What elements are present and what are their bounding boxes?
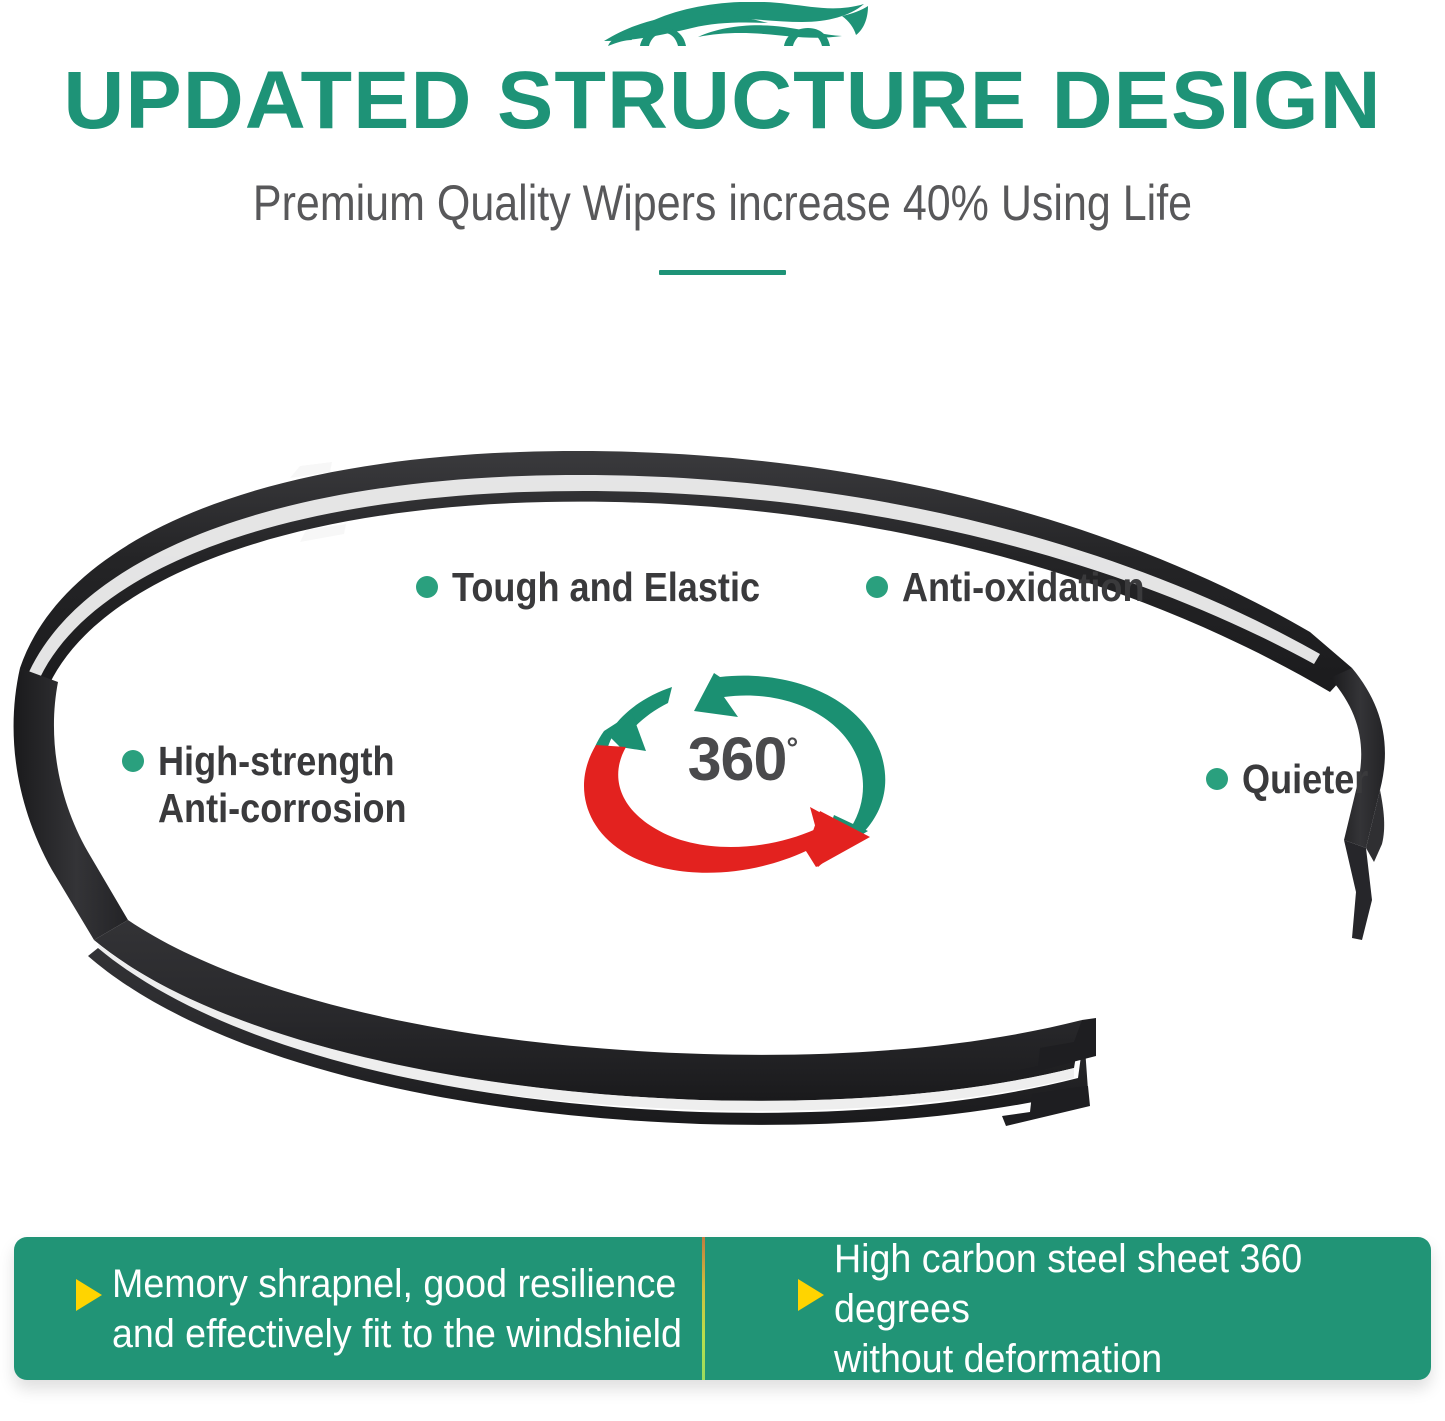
bullet-dot-icon xyxy=(866,576,888,598)
banner-text-line2: without deformation xyxy=(834,1334,1396,1384)
banner-text: Memory shrapnel, good resilienceand effe… xyxy=(112,1259,682,1359)
page-subtitle: Premium Quality Wipers increase 40% Usin… xyxy=(101,173,1344,233)
feature-text-line1: High-strength xyxy=(158,738,395,784)
bullet-dot-icon xyxy=(1206,768,1228,790)
header-divider xyxy=(659,270,786,275)
page-title: UPDATED STRUCTURE DESIGN xyxy=(0,58,1445,144)
feature-text-line2: Anti-corrosion xyxy=(158,785,407,832)
feature-label-anti-oxidation: Anti-oxidation xyxy=(866,564,1178,611)
bottom-feature-banner: Memory shrapnel, good resilienceand effe… xyxy=(14,1237,1431,1380)
banner-item-high-carbon-steel: High carbon steel sheet 360 degreeswitho… xyxy=(723,1237,1432,1380)
banner-text: High carbon steel sheet 360 degreeswitho… xyxy=(834,1234,1396,1384)
badge-360-degrees: 360° xyxy=(568,655,918,885)
banner-item-memory-shrapnel: Memory shrapnel, good resilienceand effe… xyxy=(14,1237,723,1380)
banner-vertical-divider xyxy=(702,1237,705,1380)
badge-360-text: 360° xyxy=(568,717,918,791)
degree-symbol-icon: ° xyxy=(786,732,798,765)
banner-text-line2: and effectively fit to the windshield xyxy=(112,1309,682,1359)
feature-label-tough-and-elastic: Tough and Elastic xyxy=(416,564,802,611)
infographic-page: UPDATED STRUCTURE DESIGN Premium Quality… xyxy=(0,0,1445,1421)
badge-value: 360 xyxy=(688,725,787,793)
sports-car-logo xyxy=(592,2,870,58)
feature-text: High-strengthAnti-corrosion xyxy=(158,738,407,832)
feature-text: Tough and Elastic xyxy=(452,564,760,611)
feature-label-high-strength-anti-corrosion: High-strengthAnti-corrosion xyxy=(122,738,440,832)
feature-text: Anti-oxidation xyxy=(902,564,1145,611)
bullet-dot-icon xyxy=(122,750,144,772)
feature-text: Quieter xyxy=(1242,756,1368,803)
bullet-dot-icon xyxy=(416,576,438,598)
feature-label-quieter: Quieter xyxy=(1206,756,1386,803)
banner-text-line1: Memory shrapnel, good resilience xyxy=(112,1262,676,1306)
play-triangle-icon xyxy=(76,1279,102,1311)
banner-text-line1: High carbon steel sheet 360 degrees xyxy=(834,1237,1302,1331)
play-triangle-icon xyxy=(798,1279,824,1311)
